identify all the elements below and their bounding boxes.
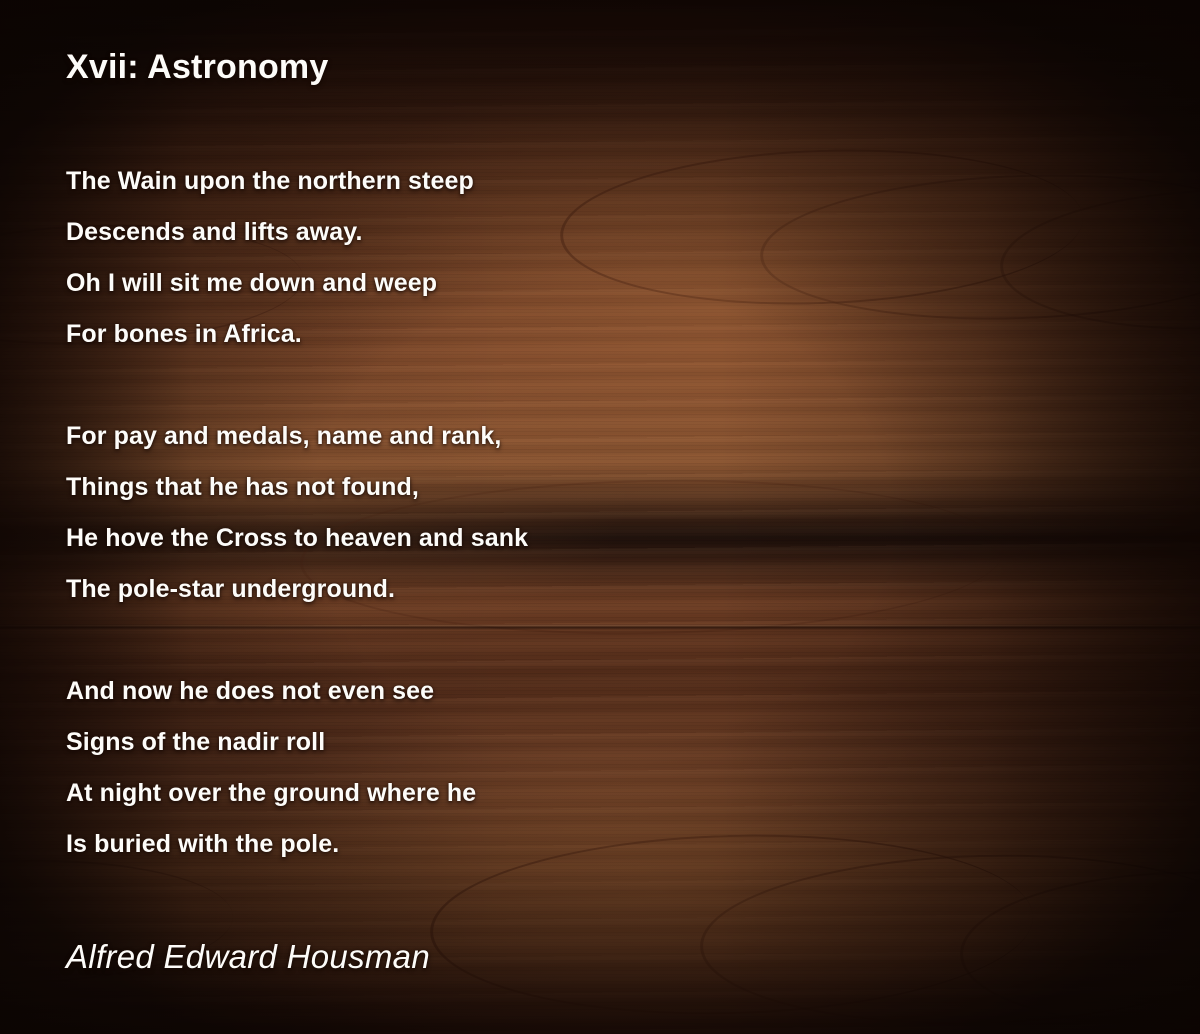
- poem-body: The Wain upon the northern steep Descend…: [66, 156, 528, 870]
- poem-line: For pay and medals, name and rank,: [66, 411, 528, 462]
- poem-title: Xvii: Astronomy: [66, 48, 328, 87]
- poem-line: Is buried with the pole.: [66, 819, 528, 870]
- poem-line: The pole-star underground.: [66, 564, 528, 615]
- poem-line: He hove the Cross to heaven and sank: [66, 513, 528, 564]
- poem-line: Signs of the nadir roll: [66, 717, 528, 768]
- poem-line: At night over the ground where he: [66, 768, 528, 819]
- poem-stanza: The Wain upon the northern steep Descend…: [66, 156, 528, 360]
- poem-line: And now he does not even see: [66, 666, 528, 717]
- poem-stanza: And now he does not even see Signs of th…: [66, 666, 528, 870]
- poem-line: Things that he has not found,: [66, 462, 528, 513]
- poem-line: Descends and lifts away.: [66, 207, 528, 258]
- poem-card: Xvii: Astronomy The Wain upon the northe…: [0, 0, 1200, 1034]
- poem-line: Oh I will sit me down and weep: [66, 258, 528, 309]
- poem-content: Xvii: Astronomy The Wain upon the northe…: [0, 0, 1200, 1034]
- poem-stanza: For pay and medals, name and rank, Thing…: [66, 411, 528, 615]
- poem-author: Alfred Edward Housman: [66, 938, 430, 976]
- poem-line: For bones in Africa.: [66, 309, 528, 360]
- poem-line: The Wain upon the northern steep: [66, 156, 528, 207]
